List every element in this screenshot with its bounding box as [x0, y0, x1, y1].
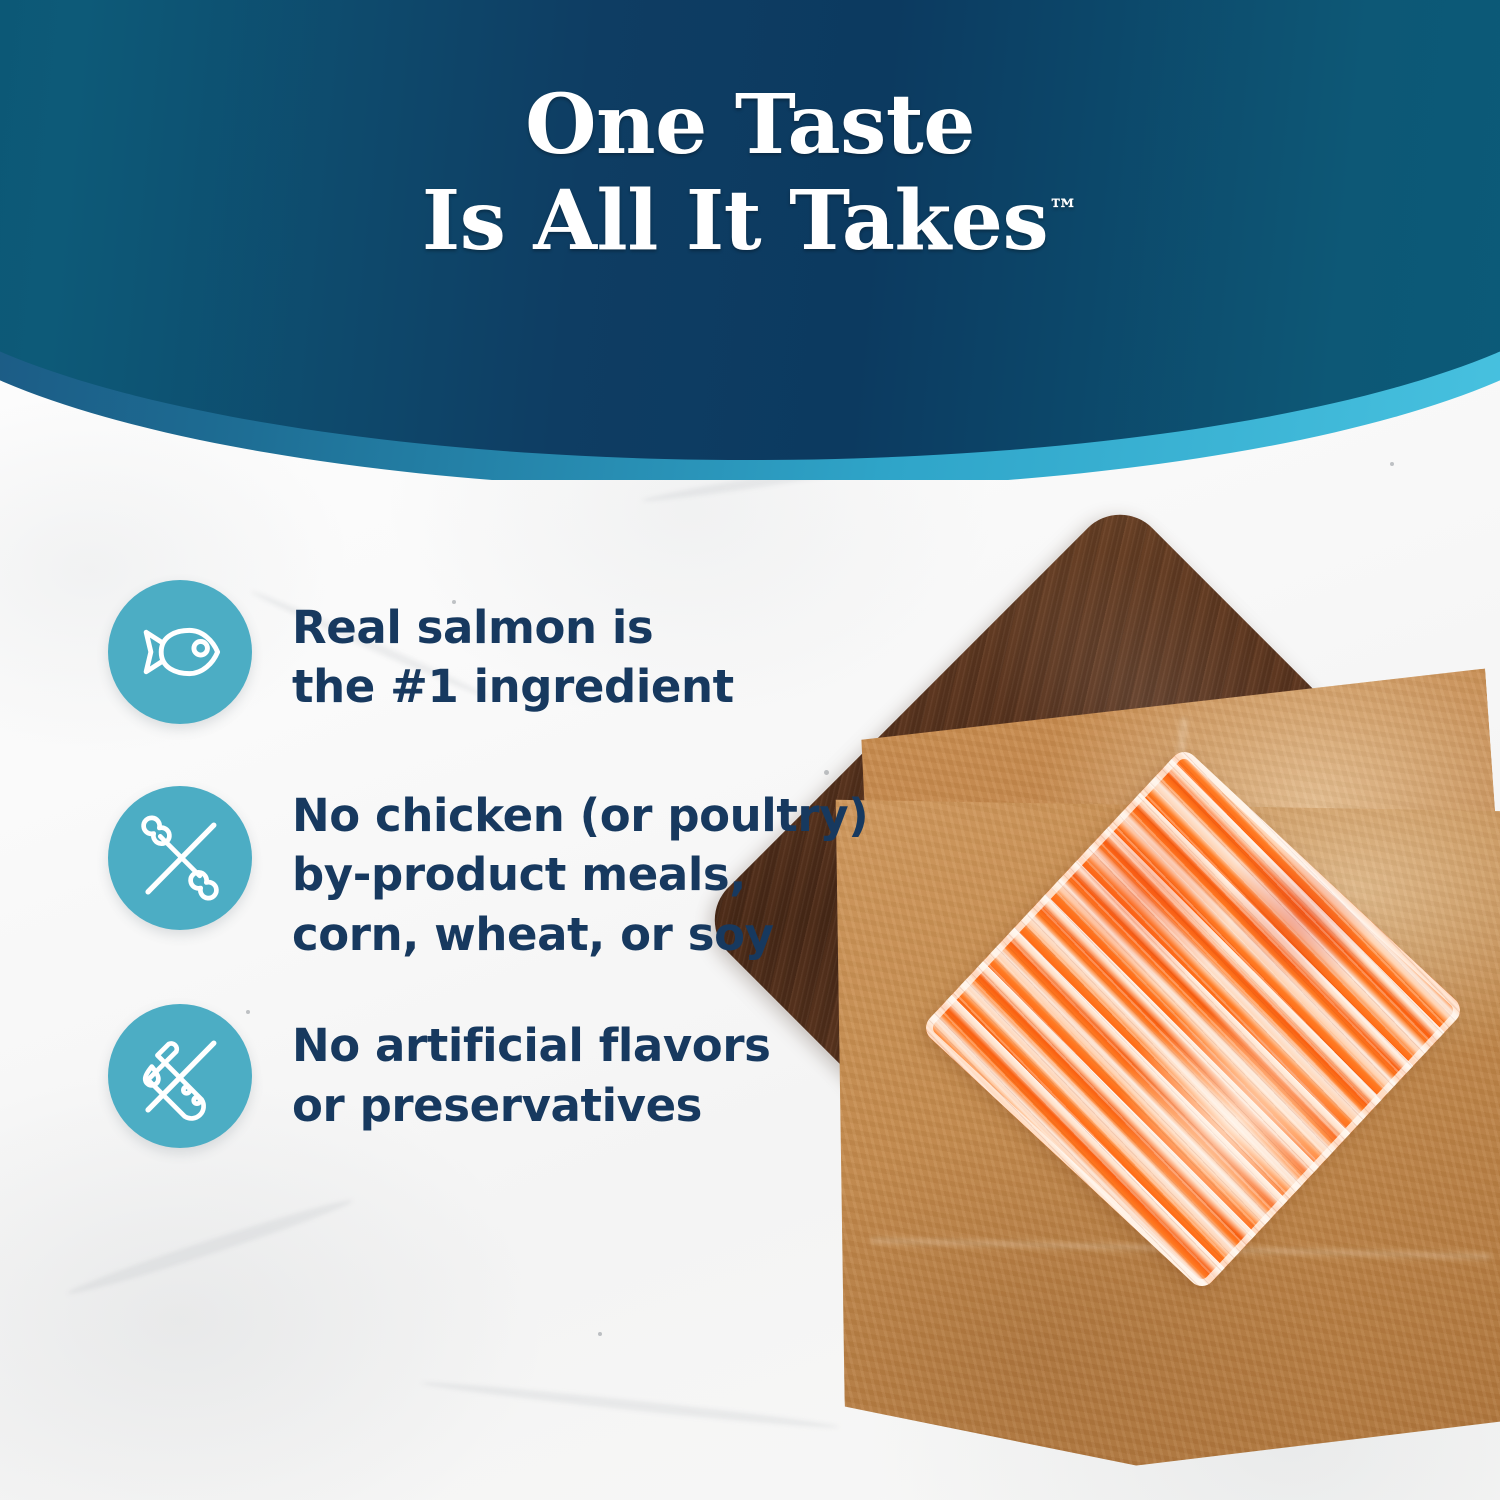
- no-test-tube-icon-badge: [108, 1004, 252, 1148]
- benefit-line: the #1 ingredient: [292, 657, 734, 716]
- fish-icon: [133, 605, 227, 699]
- benefit-line: or preservatives: [292, 1076, 771, 1135]
- benefit-line: Real salmon is: [292, 598, 734, 657]
- page-title: One Taste Is All It Takes™: [0, 78, 1500, 270]
- benefit-text-no-byproduct: No chicken (or poultry) by-product meals…: [292, 786, 868, 964]
- no-test-tube-icon: [133, 1029, 227, 1123]
- fish-icon-badge: [108, 580, 252, 724]
- header-band: One Taste Is All It Takes™: [0, 0, 1500, 480]
- benefit-line: No chicken (or poultry): [292, 786, 868, 845]
- benefit-line: No artificial flavors: [292, 1016, 771, 1075]
- trademark-symbol: ™: [1048, 194, 1078, 229]
- product-feature-panel: One Taste Is All It Takes™ Real salmon i…: [0, 0, 1500, 1500]
- benefit-item-no-artificial: No artificial flavors or preservatives: [108, 1004, 898, 1148]
- headline-line-2-wrapper: Is All It Takes™: [0, 174, 1500, 270]
- marble-speck: [598, 1332, 602, 1336]
- benefit-text-no-artificial: No artificial flavors or preservatives: [292, 1004, 771, 1135]
- no-bone-icon: [133, 811, 227, 905]
- benefits-list: Real salmon is the #1 ingredient No chic…: [108, 580, 898, 1148]
- headline-line-1: One Taste: [0, 78, 1500, 174]
- headline-line-2: Is All It Takes: [422, 173, 1048, 269]
- benefit-line: by-product meals,: [292, 845, 868, 904]
- benefit-item-real-salmon: Real salmon is the #1 ingredient: [108, 580, 898, 724]
- benefit-line: corn, wheat, or soy: [292, 905, 868, 964]
- no-bone-icon-badge: [108, 786, 252, 930]
- benefit-text-real-salmon: Real salmon is the #1 ingredient: [292, 580, 734, 717]
- benefit-item-no-byproduct: No chicken (or poultry) by-product meals…: [108, 786, 898, 964]
